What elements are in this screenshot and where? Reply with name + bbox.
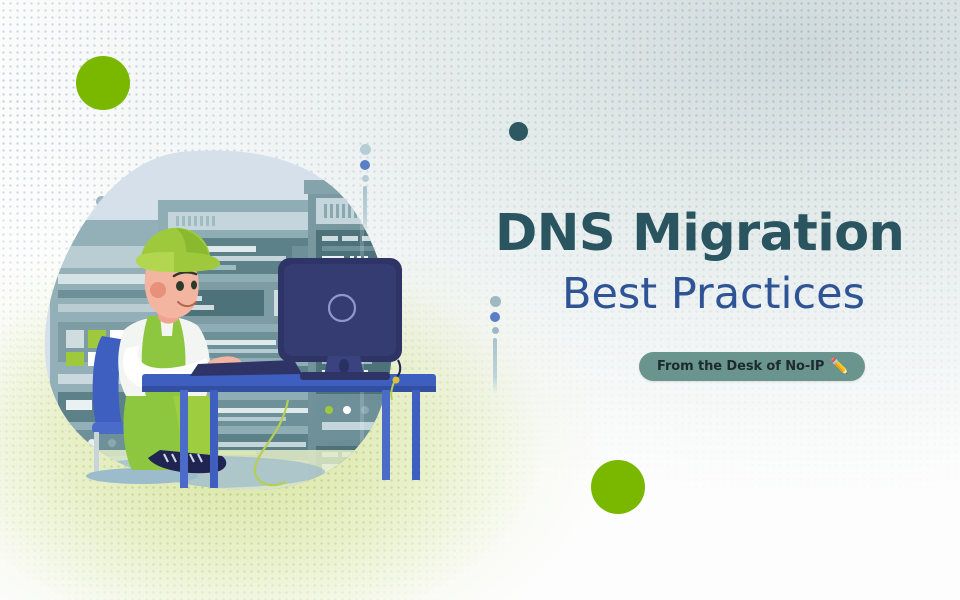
badge-label: From the Desk of No-IP: [657, 359, 824, 374]
datacenter-technician-illustration: [30, 150, 500, 510]
illustration-blob: [30, 150, 500, 510]
headline-block: DNS Migration Best Practices: [495, 208, 895, 316]
green-circle-bottom-right-icon: [591, 460, 645, 514]
badge-row: From the Desk of No-IP ✏️: [495, 352, 865, 381]
status-badge: From the Desk of No-IP ✏️: [639, 352, 865, 381]
page-title: DNS Migration: [495, 208, 895, 259]
green-circle-top-left-icon: [76, 56, 130, 110]
page-subtitle: Best Practices: [495, 273, 865, 316]
pencil-icon: ✏️: [830, 359, 849, 374]
teal-dot-icon: [509, 122, 528, 141]
banner-graphic: DNS Migration Best Practices From the De…: [0, 0, 960, 600]
